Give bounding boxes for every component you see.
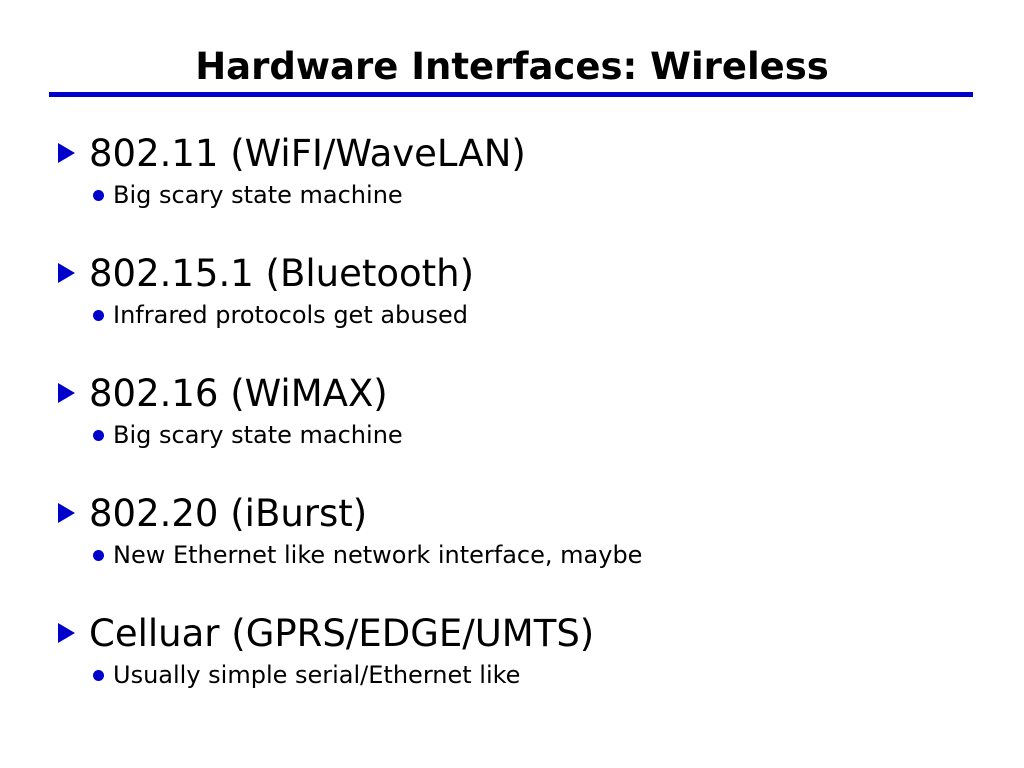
bullet-group: 802.20 (iBurst) New Ethernet like networ… <box>0 491 1024 611</box>
triangle-right-icon <box>58 383 75 403</box>
disc-bullet-icon <box>93 430 104 441</box>
title-underline-rule <box>49 92 973 97</box>
bullet-group: 802.15.1 (Bluetooth) Infrared protocols … <box>0 251 1024 371</box>
bullet-level2-label: New Ethernet like network interface, may… <box>113 539 642 571</box>
disc-bullet-icon <box>93 670 104 681</box>
bullet-item-level1: Celluar (GPRS/EDGE/UMTS) <box>0 611 1024 657</box>
bullet-level1-label: 802.15.1 (Bluetooth) <box>89 251 474 297</box>
slide-canvas: Hardware Interfaces: Wireless 802.11 (Wi… <box>0 0 1024 768</box>
triangle-right-icon <box>58 503 75 523</box>
triangle-right-icon <box>58 263 75 283</box>
bullet-level1-label: Celluar (GPRS/EDGE/UMTS) <box>89 611 594 657</box>
bullet-level2-label: Infrared protocols get abused <box>113 299 468 331</box>
bullet-item-level2: Big scary state machine <box>0 179 1024 211</box>
bullet-level1-label: 802.16 (WiMAX) <box>89 371 388 417</box>
bullet-group: Celluar (GPRS/EDGE/UMTS) Usually simple … <box>0 611 1024 731</box>
bullet-item-level2: New Ethernet like network interface, may… <box>0 539 1024 571</box>
bullet-level2-label: Big scary state machine <box>113 419 403 451</box>
bullet-item-level1: 802.15.1 (Bluetooth) <box>0 251 1024 297</box>
disc-bullet-icon <box>93 190 104 201</box>
bullet-group: 802.11 (WiFI/WaveLAN) Big scary state ma… <box>0 131 1024 251</box>
bullet-level1-label: 802.20 (iBurst) <box>89 491 367 537</box>
bullet-item-level2: Infrared protocols get abused <box>0 299 1024 331</box>
triangle-right-icon <box>58 143 75 163</box>
bullet-level2-label: Usually simple serial/Ethernet like <box>113 659 520 691</box>
bullet-item-level2: Big scary state machine <box>0 419 1024 451</box>
disc-bullet-icon <box>93 550 104 561</box>
bullet-item-level1: 802.20 (iBurst) <box>0 491 1024 537</box>
bullet-level2-label: Big scary state machine <box>113 179 403 211</box>
bullet-item-level1: 802.11 (WiFI/WaveLAN) <box>0 131 1024 177</box>
disc-bullet-icon <box>93 310 104 321</box>
bullet-list: 802.11 (WiFI/WaveLAN) Big scary state ma… <box>0 131 1024 731</box>
bullet-level1-label: 802.11 (WiFI/WaveLAN) <box>89 131 526 177</box>
bullet-item-level2: Usually simple serial/Ethernet like <box>0 659 1024 691</box>
slide-title-block: Hardware Interfaces: Wireless <box>0 44 1024 90</box>
bullet-group: 802.16 (WiMAX) Big scary state machine <box>0 371 1024 491</box>
bullet-item-level1: 802.16 (WiMAX) <box>0 371 1024 417</box>
page-title: Hardware Interfaces: Wireless <box>0 44 1024 90</box>
triangle-right-icon <box>58 623 75 643</box>
